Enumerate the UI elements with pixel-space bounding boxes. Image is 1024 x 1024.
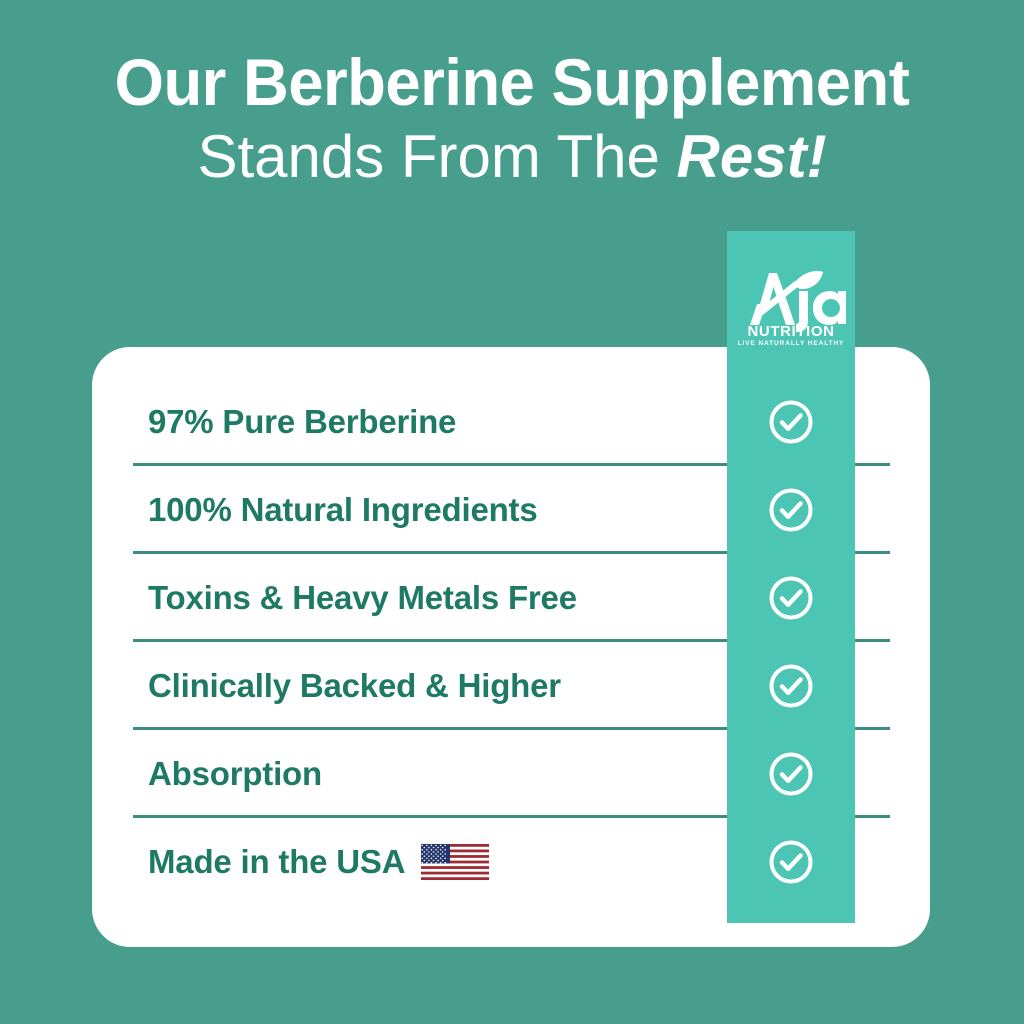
- check-circle-icon: [727, 466, 855, 554]
- feature-row-label: Clinically Backed & Higher: [148, 642, 561, 730]
- brand-logo: NUTRITION LIVE NATURALLY HEALTHY: [727, 249, 855, 349]
- check-circle-icon: [727, 378, 855, 466]
- check-circle-icon: [727, 554, 855, 642]
- check-column: [727, 347, 855, 947]
- headline-line-1: Our Berberine Supplement: [20, 44, 1003, 120]
- headline-line-2: Stands From The Rest!: [0, 120, 1024, 194]
- headline-line-2-prefix: Stands From The: [197, 123, 676, 190]
- feature-row-label: Absorption: [148, 730, 322, 818]
- check-circle-icon: [727, 642, 855, 730]
- page-headline: Our Berberine Supplement Stands From The…: [0, 44, 1024, 194]
- svg-text:NUTRITION: NUTRITION: [747, 323, 834, 340]
- feature-row-label: Toxins & Heavy Metals Free: [148, 554, 577, 642]
- feature-row-label: 97% Pure Berberine: [148, 378, 456, 466]
- check-circle-icon: [727, 730, 855, 818]
- headline-line-2-accent: Rest!: [677, 123, 827, 190]
- check-circle-icon: [727, 818, 855, 906]
- us-flag-icon: [421, 844, 489, 880]
- svg-text:LIVE NATURALLY HEALTHY: LIVE NATURALLY HEALTHY: [738, 340, 845, 347]
- feature-row-label: 100% Natural Ingredients: [148, 466, 538, 554]
- feature-row-label: Made in the USA: [148, 818, 489, 906]
